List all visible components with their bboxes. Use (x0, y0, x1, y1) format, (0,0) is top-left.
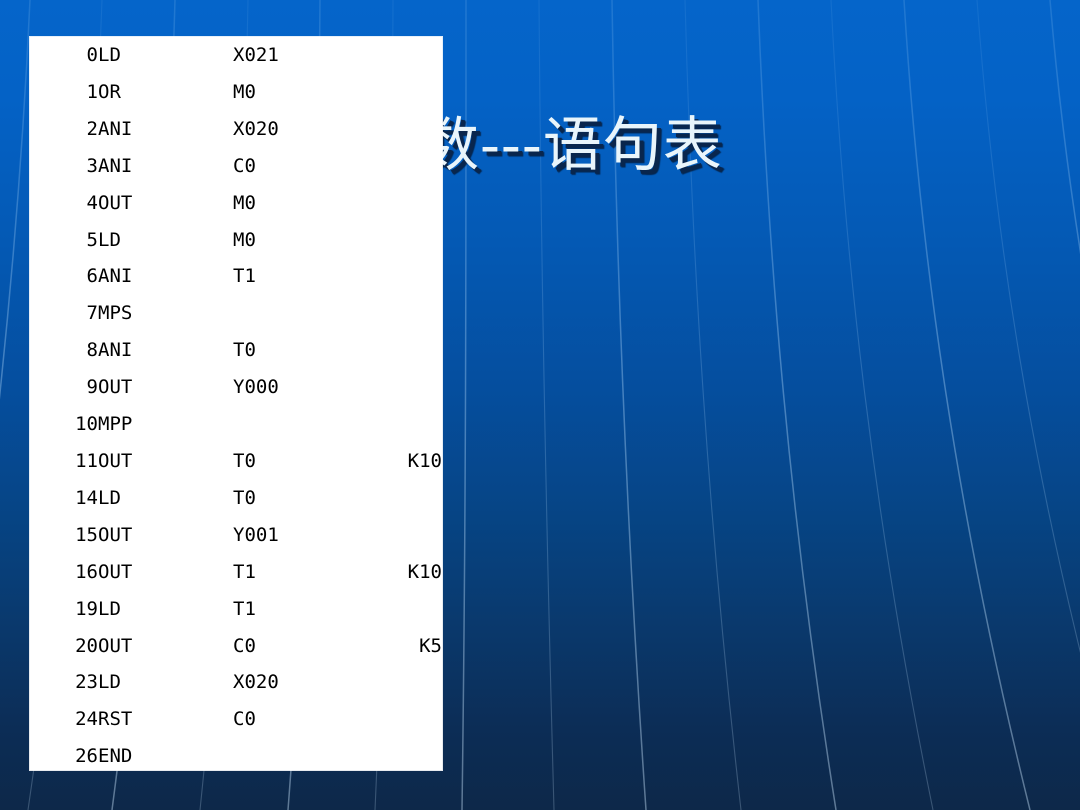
step-number: 26 (30, 738, 98, 770)
constant-value: K10 (358, 443, 442, 480)
step-number: 5 (30, 222, 98, 259)
operand-device: Y000 (233, 369, 358, 406)
statement-list-row: 5LDM0 (30, 222, 442, 259)
statement-list-row: 26END (30, 738, 442, 770)
statement-list-row: 8ANIT0 (30, 332, 442, 369)
constant-value (358, 332, 442, 369)
instruction-mnemonic: OUT (98, 517, 233, 554)
step-number: 2 (30, 111, 98, 148)
constant-value (358, 148, 442, 185)
presentation-slide: 灯计数---语句表 0LDX0211ORM02ANIX0203ANIC04OUT… (0, 0, 1080, 810)
operand-device: C0 (233, 701, 358, 738)
instruction-mnemonic: LD (98, 37, 233, 74)
step-number: 9 (30, 369, 98, 406)
operand-device: T1 (233, 258, 358, 295)
statement-list-row: 19LDT1 (30, 591, 442, 628)
instruction-mnemonic: OUT (98, 185, 233, 222)
statement-list-row: 20OUTC0K5 (30, 628, 442, 665)
step-number: 1 (30, 74, 98, 111)
statement-list-row: 23LDX020 (30, 664, 442, 701)
step-number: 14 (30, 480, 98, 517)
step-number: 24 (30, 701, 98, 738)
operand-device: T0 (233, 480, 358, 517)
operand-device (233, 738, 358, 770)
instruction-mnemonic: ANI (98, 111, 233, 148)
operand-device: M0 (233, 185, 358, 222)
statement-list-row: 7MPS (30, 295, 442, 332)
step-number: 15 (30, 517, 98, 554)
statement-list-row: 6ANIT1 (30, 258, 442, 295)
step-number: 11 (30, 443, 98, 480)
step-number: 7 (30, 295, 98, 332)
step-number: 10 (30, 406, 98, 443)
constant-value (358, 738, 442, 770)
constant-value (358, 701, 442, 738)
step-number: 20 (30, 628, 98, 665)
instruction-mnemonic: MPP (98, 406, 233, 443)
operand-device: X020 (233, 664, 358, 701)
statement-list-row: 15OUTY001 (30, 517, 442, 554)
instruction-mnemonic: LD (98, 222, 233, 259)
constant-value (358, 517, 442, 554)
operand-device: T1 (233, 591, 358, 628)
step-number: 3 (30, 148, 98, 185)
operand-device: X021 (233, 37, 358, 74)
instruction-mnemonic: OUT (98, 369, 233, 406)
instruction-mnemonic: OUT (98, 554, 233, 591)
operand-device: T0 (233, 443, 358, 480)
constant-value (358, 111, 442, 148)
step-number: 16 (30, 554, 98, 591)
constant-value (358, 74, 442, 111)
statement-list-row: 2ANIX020 (30, 111, 442, 148)
instruction-mnemonic: OUT (98, 443, 233, 480)
statement-list-panel: 0LDX0211ORM02ANIX0203ANIC04OUTM05LDM06AN… (30, 37, 442, 770)
statement-list-row: 10MPP (30, 406, 442, 443)
statement-list-row: 4OUTM0 (30, 185, 442, 222)
statement-list-table: 0LDX0211ORM02ANIX0203ANIC04OUTM05LDM06AN… (30, 37, 442, 770)
step-number: 4 (30, 185, 98, 222)
step-number: 0 (30, 37, 98, 74)
operand-device: C0 (233, 148, 358, 185)
operand-device (233, 295, 358, 332)
constant-value (358, 295, 442, 332)
statement-list-row: 3ANIC0 (30, 148, 442, 185)
step-number: 8 (30, 332, 98, 369)
constant-value (358, 591, 442, 628)
statement-list-row: 1ORM0 (30, 74, 442, 111)
instruction-mnemonic: OUT (98, 628, 233, 665)
operand-device: C0 (233, 628, 358, 665)
operand-device (233, 406, 358, 443)
instruction-mnemonic: ANI (98, 148, 233, 185)
constant-value (358, 185, 442, 222)
step-number: 19 (30, 591, 98, 628)
statement-list-body: 0LDX0211ORM02ANIX0203ANIC04OUTM05LDM06AN… (30, 37, 442, 770)
constant-value (358, 258, 442, 295)
instruction-mnemonic: LD (98, 591, 233, 628)
constant-value (358, 406, 442, 443)
constant-value (358, 222, 442, 259)
constant-value (358, 37, 442, 74)
operand-device: T0 (233, 332, 358, 369)
instruction-mnemonic: OR (98, 74, 233, 111)
statement-list-row: 16OUTT1K10 (30, 554, 442, 591)
instruction-mnemonic: ANI (98, 332, 233, 369)
instruction-mnemonic: END (98, 738, 233, 770)
constant-value (358, 480, 442, 517)
statement-list-row: 14LDT0 (30, 480, 442, 517)
statement-list-row: 9OUTY000 (30, 369, 442, 406)
constant-value (358, 369, 442, 406)
instruction-mnemonic: LD (98, 664, 233, 701)
constant-value (358, 664, 442, 701)
statement-list-row: 11OUTT0K10 (30, 443, 442, 480)
operand-device: X020 (233, 111, 358, 148)
instruction-mnemonic: RST (98, 701, 233, 738)
operand-device: Y001 (233, 517, 358, 554)
constant-value: K10 (358, 554, 442, 591)
operand-device: M0 (233, 74, 358, 111)
statement-list-row: 24RSTC0 (30, 701, 442, 738)
instruction-mnemonic: MPS (98, 295, 233, 332)
statement-list-row: 0LDX021 (30, 37, 442, 74)
instruction-mnemonic: LD (98, 480, 233, 517)
operand-device: T1 (233, 554, 358, 591)
step-number: 23 (30, 664, 98, 701)
step-number: 6 (30, 258, 98, 295)
constant-value: K5 (358, 628, 442, 665)
operand-device: M0 (233, 222, 358, 259)
instruction-mnemonic: ANI (98, 258, 233, 295)
